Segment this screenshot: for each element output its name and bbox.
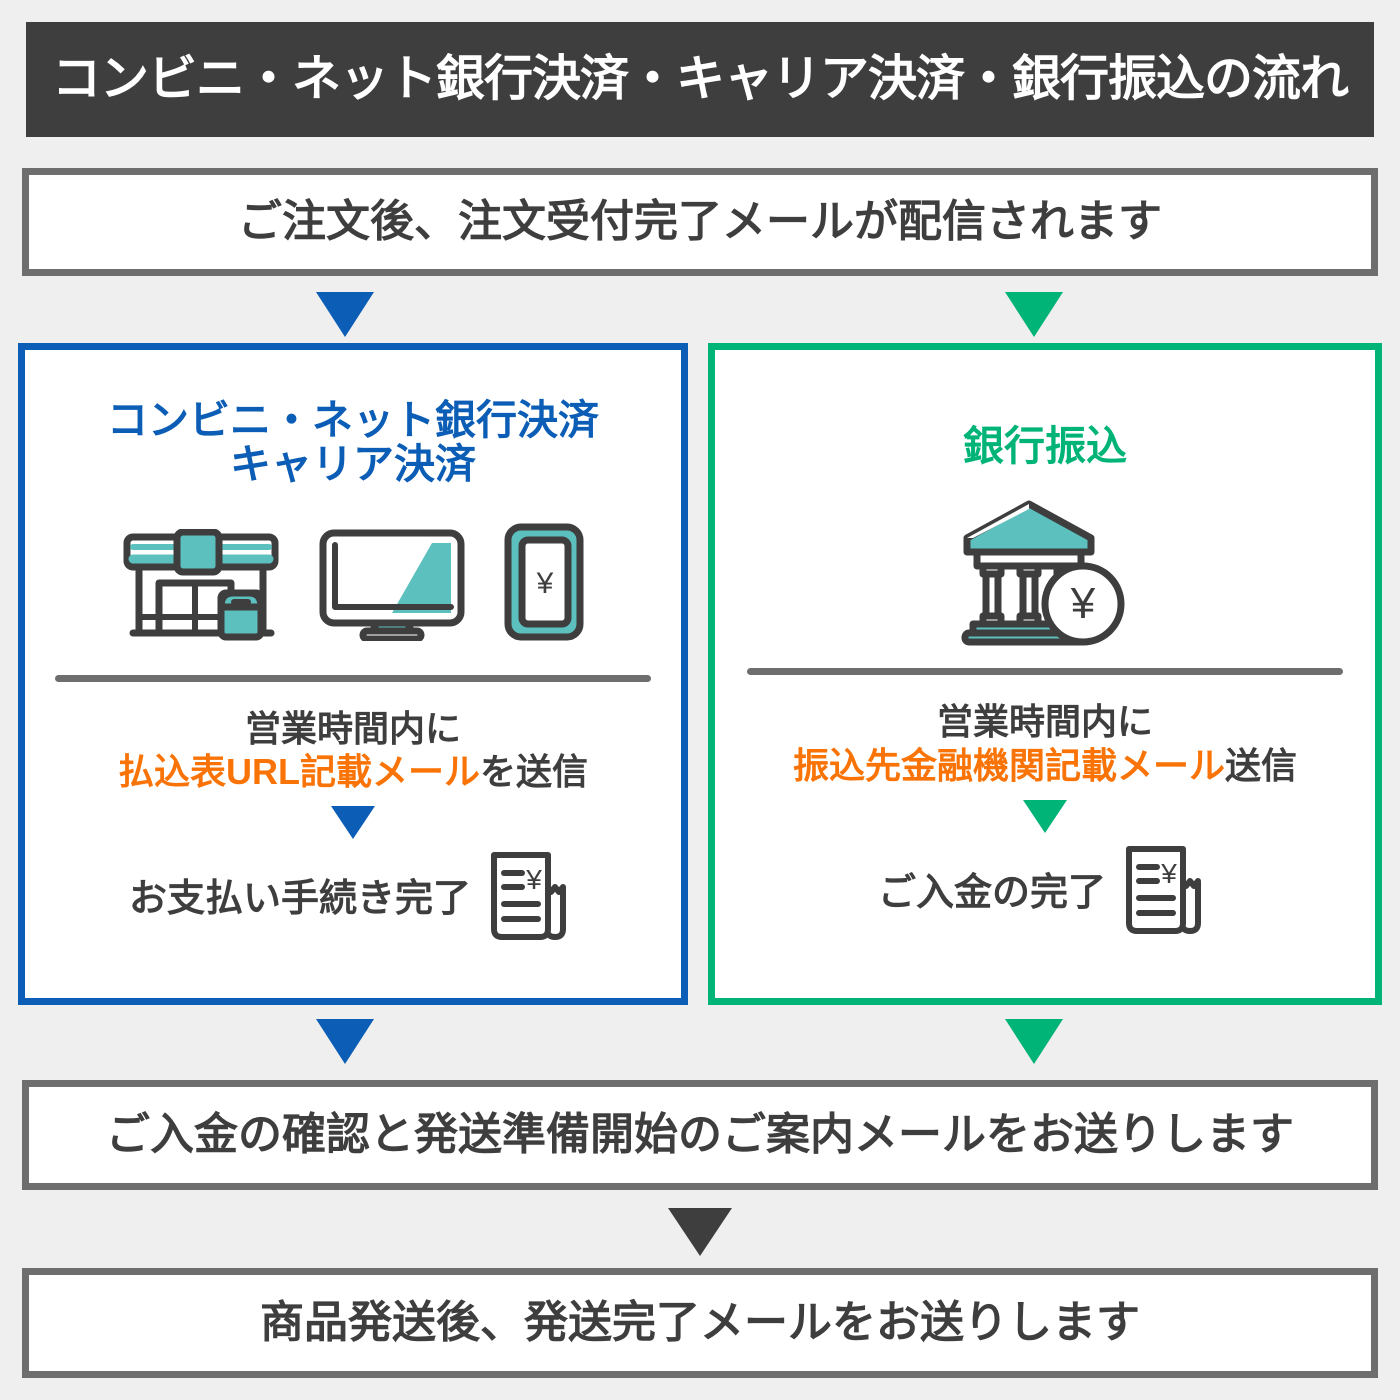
step-payment-confirmed-box: ご入金の確認と発送準備開始のご案内メールをお送りします <box>22 1080 1378 1190</box>
down-arrow-to-conveni-icon <box>316 292 374 337</box>
diagram-header: コンビニ・ネット銀行決済・キャリア決済・銀行振込の流れ <box>26 22 1374 137</box>
svg-text:¥: ¥ <box>536 567 554 600</box>
panel-bank-divider <box>747 668 1343 675</box>
panel-bank-note-line2: 振込先金融機関記載メール送信 <box>715 743 1375 788</box>
panel-conveni-final-row: お支払い手続き完了 ¥ <box>25 847 681 943</box>
panel-bank-icon-row: ¥ <box>715 496 1375 646</box>
down-arrow-bank-to-confirm-icon <box>1005 1019 1063 1064</box>
down-arrow-confirm-to-shipped-icon <box>668 1208 732 1256</box>
panel-bank-note-highlight: 振込先金融機関記載メール <box>793 745 1225 786</box>
receipt-yen-icon: ¥ <box>1120 841 1212 937</box>
panel-bank-final-row: ご入金の完了 ¥ <box>715 841 1375 937</box>
bank-building-yen-icon: ¥ <box>955 496 1135 646</box>
desktop-monitor-icon <box>317 527 467 641</box>
panel-conveni-note-highlight: 払込表URL記載メール <box>118 751 480 792</box>
panel-bank-note-line1: 営業時間内に <box>715 701 1375 742</box>
convenience-store-icon <box>121 529 281 641</box>
step-order-confirmation-box: ご注文後、注文受付完了メールが配信されます <box>22 168 1378 276</box>
panel-bank-heading-line1: 銀行振込 <box>715 424 1375 468</box>
panel-conveni-icon-row: ¥ <box>25 521 681 641</box>
panel-conveni-heading-line2: キャリア決済 <box>25 442 681 486</box>
panel-conveni-note-line1: 営業時間内に <box>25 708 681 749</box>
step-order-confirmation-text: ご注文後、注文受付完了メールが配信されます <box>238 200 1162 244</box>
panel-bank-note: 営業時間内に 振込先金融機関記載メール送信 <box>715 701 1375 787</box>
panel-conveni-payment: コンビニ・ネット銀行決済 キャリア決済 <box>18 343 688 1005</box>
panel-bank-heading: 銀行振込 <box>715 350 1375 468</box>
panel-bank-note-suffix: 送信 <box>1225 745 1297 786</box>
panel-bank-inline-arrow-wrap <box>715 800 1375 833</box>
panel-conveni-note-line2: 払込表URL記載メールを送信 <box>25 749 681 794</box>
svg-text:¥: ¥ <box>1070 579 1096 628</box>
panel-conveni-heading-line1: コンビニ・ネット銀行決済 <box>25 398 681 442</box>
down-arrow-conveni-to-confirm-icon <box>316 1019 374 1064</box>
panel-bank-final-label: ご入金の完了 <box>878 861 1106 916</box>
down-arrow-conveni-inline-icon <box>331 806 375 839</box>
panel-conveni-note-suffix: を送信 <box>480 751 588 792</box>
svg-text:¥: ¥ <box>525 864 542 895</box>
smartphone-yen-icon: ¥ <box>503 523 585 641</box>
panel-conveni-note: 営業時間内に 払込表URL記載メールを送信 <box>25 708 681 794</box>
down-arrow-bank-inline-icon <box>1023 800 1067 833</box>
panel-conveni-divider <box>55 675 651 682</box>
diagram-title: コンビニ・ネット銀行決済・キャリア決済・銀行振込の流れ <box>52 55 1348 104</box>
panel-conveni-heading: コンビニ・ネット銀行決済 キャリア決済 <box>25 350 681 487</box>
svg-text:¥: ¥ <box>1160 858 1177 889</box>
down-arrow-to-bank-icon <box>1005 292 1063 337</box>
step-payment-confirmed-text: ご入金の確認と発送準備開始のご案内メールをお送りします <box>106 1113 1294 1157</box>
step-shipped-box: 商品発送後、発送完了メールをお送りします <box>22 1268 1378 1378</box>
panel-conveni-final-label: お支払い手続き完了 <box>129 867 471 922</box>
panel-bank-transfer: 銀行振込 <box>708 343 1382 1005</box>
panel-conveni-inline-arrow-wrap <box>25 806 681 839</box>
step-shipped-text: 商品発送後、発送完了メールをお送りします <box>260 1301 1140 1345</box>
receipt-yen-icon: ¥ <box>485 847 577 943</box>
flow-diagram: コンビニ・ネット銀行決済・キャリア決済・銀行振込の流れ ご注文後、注文受付完了メ… <box>0 0 1400 1400</box>
